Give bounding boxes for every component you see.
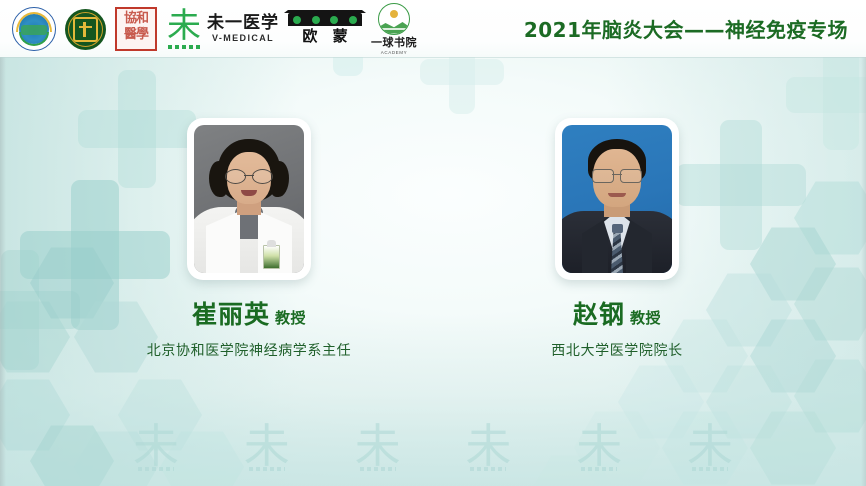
speaker-photo-frame [555,118,679,280]
presentation-slide: 未 未 未 未 未 未 [0,0,866,486]
speaker-role: 北京协和医学院神经病学系主任 [129,342,369,360]
speaker-photo-zhaogang [562,125,672,273]
wei-mark-icon: 未 [166,9,202,49]
speaker-title-suffix: 教授 [275,309,306,327]
sponsor-logo-bar: 協和醫學 未 未一医学 V-MEDICAL 欧 蒙 [12,7,417,51]
slide-header: 協和醫學 未 未一医学 V-MEDICAL 欧 蒙 [0,0,866,57]
v-medical-name-en: V-MEDICAL [207,33,279,44]
academy-label: 一球书院 [371,36,417,49]
green-round-seal-logo [65,9,106,50]
red-square-stamp-logo: 協和醫學 [115,7,157,51]
speaker-photo-cuiliying [194,125,304,273]
oumeng-bar-icon [288,13,362,26]
speaker-name-text: 赵钢 [573,300,625,329]
v-medical-logo: 未 未一医学 V-MEDICAL [166,9,279,49]
oumeng-label: 欧 蒙 [297,27,352,45]
v-medical-name-cn: 未一医学 [207,14,279,33]
speaker-list: 崔丽英教授 北京协和医学院神经病学系主任 [0,118,866,360]
oumeng-logo: 欧 蒙 [288,13,362,45]
seal-icon [65,9,106,50]
speaker-name-text: 崔丽英 [192,300,270,329]
speaker-role: 西北大学医学院院长 [497,342,737,360]
speaker-title-suffix: 教授 [630,309,661,327]
wei-char: 未 [167,6,201,46]
speaker-name: 崔丽英教授 [129,300,369,333]
landscape-icon [378,3,410,35]
speaker-card: 赵钢教授 西北大学医学院院长 [497,118,737,360]
stamp-icon: 協和醫學 [115,7,157,51]
speaker-card: 崔丽英教授 北京协和医学院神经病学系主任 [129,118,369,360]
globe-seal-logo [12,7,56,51]
speaker-photo-frame [187,118,311,280]
academy-logo: 一球书院 ACADEMY [371,3,417,56]
conference-title: 2021年脑炎大会——神经免疫专场 [524,0,848,57]
globe-icon [12,7,56,51]
academy-sublabel: ACADEMY [381,50,407,56]
speaker-name: 赵钢教授 [497,300,737,333]
